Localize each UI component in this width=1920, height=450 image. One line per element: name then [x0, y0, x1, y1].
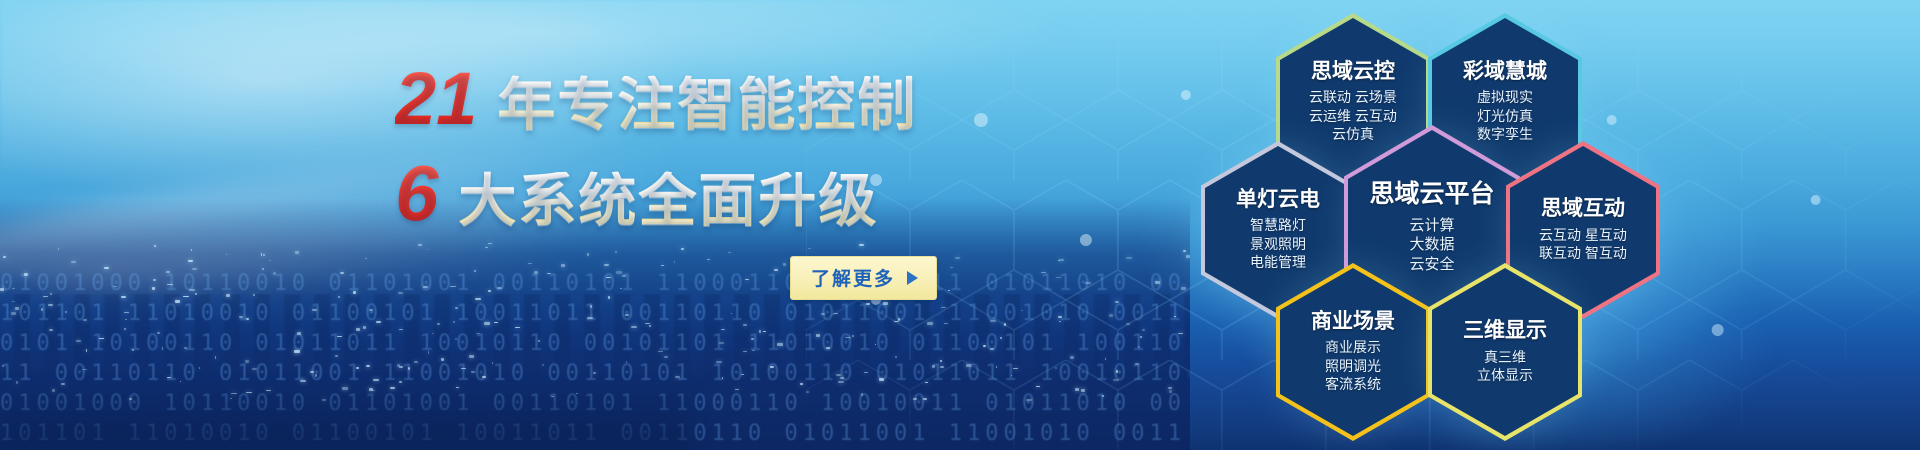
hex-subtitle-line: 灯光仿真 [1477, 107, 1533, 125]
headline-line-1: 21 年专注智能控制 [395, 62, 955, 136]
hex-title: 思域互动 [1541, 197, 1625, 220]
headline-text-2: 大系统全面升级 [458, 172, 878, 230]
hex-subtitle-list: 智慧路灯景观照明电能管理 [1250, 216, 1306, 271]
hex-subtitle-line: 电能管理 [1250, 253, 1306, 271]
hex-title: 商业场景 [1311, 310, 1395, 333]
hex-subtitle-line: 虚拟现实 [1477, 88, 1533, 106]
headline-number-6: 6 [395, 154, 444, 232]
hex-subtitle-line: 立体显示 [1477, 366, 1533, 384]
hex-subtitle-line: 云联动 云场景 [1309, 88, 1397, 106]
hex-title: 思域云控 [1311, 60, 1395, 83]
hex-subtitle-line: 大数据 [1409, 235, 1454, 255]
hex-subtitle-line: 景观照明 [1250, 235, 1306, 253]
hex-title: 单灯云电 [1236, 188, 1320, 211]
hex-title: 三维显示 [1463, 319, 1547, 342]
hex-subtitle-line: 云互动 星互动 [1539, 226, 1627, 244]
hex-title: 思域云平台 [1369, 181, 1494, 209]
learn-more-label: 了解更多 [811, 264, 895, 291]
hex-subtitle-list: 真三维立体显示 [1477, 348, 1533, 385]
hex-subtitle-line: 数字孪生 [1477, 125, 1533, 143]
hex-subtitle-line: 客流系统 [1325, 375, 1381, 393]
hex-subtitle-list: 商业展示照明调光客流系统 [1325, 338, 1381, 393]
hex-subtitle-line: 商业展示 [1325, 338, 1381, 356]
headline-line-2: 6 大系统全面升级 [395, 154, 955, 232]
hex-subtitle-list: 云联动 云场景云运维 云互动云仿真 [1309, 88, 1397, 143]
hex-title: 彩域慧城 [1463, 60, 1547, 83]
promo-banner: 01001000 10110010 01101001 00110101 1100… [0, 0, 1920, 450]
hex-subtitle-line: 云运维 云互动 [1309, 107, 1397, 125]
learn-more-button[interactable]: 了解更多 [790, 256, 937, 300]
headline-block: 21 年专注智能控制 6 大系统全面升级 [395, 62, 955, 232]
hex-subtitle-line: 云计算 [1409, 216, 1454, 236]
hex-subtitle-line: 真三维 [1477, 348, 1533, 366]
city-foreground-blur [0, 384, 690, 450]
hex-subtitle-list: 云计算大数据云安全 [1409, 216, 1454, 275]
hex-subtitle-line: 照明调光 [1325, 357, 1381, 375]
hex-subtitle-line: 智慧路灯 [1250, 216, 1306, 234]
hex-subtitle-line: 联互动 智互动 [1539, 244, 1627, 262]
hex-subtitle-line: 云仿真 [1309, 125, 1397, 143]
headline-number-21: 21 [395, 62, 483, 136]
hex-subtitle-list: 云互动 星互动联互动 智互动 [1539, 226, 1627, 263]
hexagon-cluster: 思域云控云联动 云场景云运维 云互动云仿真彩域慧城虚拟现实灯光仿真数字孪生单灯云… [980, 0, 1680, 450]
headline-text-1: 年专注智能控制 [497, 76, 917, 134]
hex-subtitle-list: 虚拟现实灯光仿真数字孪生 [1477, 88, 1533, 143]
hex-subtitle-line: 云安全 [1409, 255, 1454, 275]
play-triangle-icon [907, 271, 918, 285]
